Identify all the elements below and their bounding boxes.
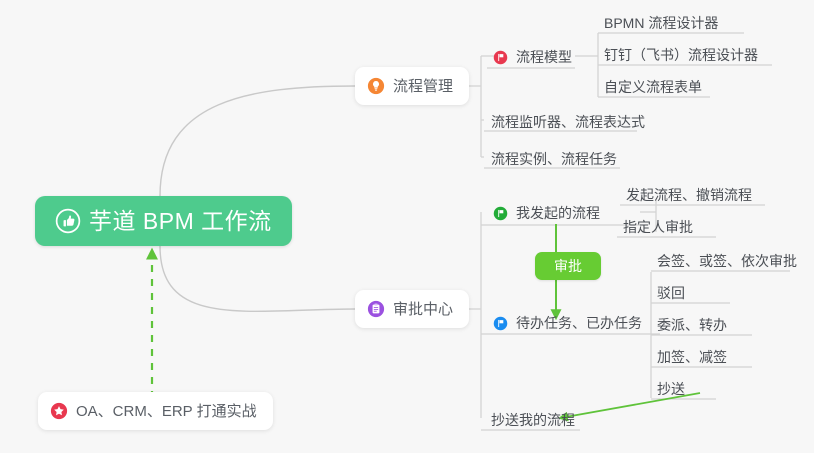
node-cc-to-me[interactable]: 抄送我的流程 [489,407,581,433]
flag-icon [493,50,508,65]
node-add-remove-sign[interactable]: 加签、减签 [655,344,733,370]
node-label: 抄送我的流程 [491,413,575,427]
link-root-to-approval-center [160,246,355,311]
node-label: 会签、或签、依次审批 [657,254,797,268]
node-custom-form[interactable]: 自定义流程表单 [602,74,708,100]
node-label: 委派、转办 [657,318,727,332]
root-label: 芋道 BPM 工作流 [89,210,272,233]
node-label: 抄送 [657,382,685,396]
node-dingtalk-designer[interactable]: 钉钉（飞书）流程设计器 [602,42,764,68]
node-label: 指定人审批 [623,220,693,234]
annotation-approval-tag[interactable]: 审批 [535,252,601,280]
node-process-model[interactable]: 流程模型 [491,44,578,70]
node-delegate-transfer[interactable]: 委派、转办 [655,312,733,338]
lightbulb-icon [367,77,385,95]
flag-icon [493,316,508,331]
node-label: 我发起的流程 [516,206,600,220]
star-icon [50,402,68,420]
node-process-listener[interactable]: 流程监听器、流程表达式 [489,109,651,135]
node-carbon-copy[interactable]: 抄送 [655,376,691,402]
branch-label: 流程管理 [393,79,453,94]
link-root-to-process-management [160,86,355,196]
node-multi-sign[interactable]: 会签、或签、依次审批 [655,248,803,274]
node-label: 流程监听器、流程表达式 [491,115,645,129]
branch-label: 审批中心 [393,302,453,317]
node-label: 驳回 [657,286,685,300]
node-assignee-approval[interactable]: 指定人审批 [621,214,699,240]
annotation-integration-note[interactable]: OA、CRM、ERP 打通实战 [38,392,273,430]
node-process-instance[interactable]: 流程实例、流程任务 [489,146,623,172]
node-label: 自定义流程表单 [604,80,702,94]
thumbs-up-icon [55,208,81,234]
node-label: 待办任务、已办任务 [516,316,642,330]
branch-process-management[interactable]: 流程管理 [355,67,469,105]
node-label: 流程模型 [516,50,572,64]
root-node[interactable]: 芋道 BPM 工作流 [35,196,292,246]
node-bpmn-designer[interactable]: BPMN 流程设计器 [602,10,724,36]
node-todo-done-tasks[interactable]: 待办任务、已办任务 [491,310,648,336]
node-label: 钉钉（飞书）流程设计器 [604,48,758,62]
node-my-initiated[interactable]: 我发起的流程 [491,200,606,226]
node-start-cancel[interactable]: 发起流程、撤销流程 [624,182,758,208]
node-label: 加签、减签 [657,350,727,364]
annotation-label: OA、CRM、ERP 打通实战 [76,404,257,419]
node-label: BPMN 流程设计器 [604,16,718,30]
node-label: 流程实例、流程任务 [491,152,617,166]
mindmap-canvas: 芋道 BPM 工作流 流程管理 流程模型 流程监听器、流程表达式 流程实例、流程… [0,0,814,453]
clipboard-icon [367,300,385,318]
annotation-label: 审批 [554,259,582,273]
flag-icon [493,206,508,221]
node-reject[interactable]: 驳回 [655,280,691,306]
node-label: 发起流程、撤销流程 [626,188,752,202]
branch-approval-center[interactable]: 审批中心 [355,290,469,328]
